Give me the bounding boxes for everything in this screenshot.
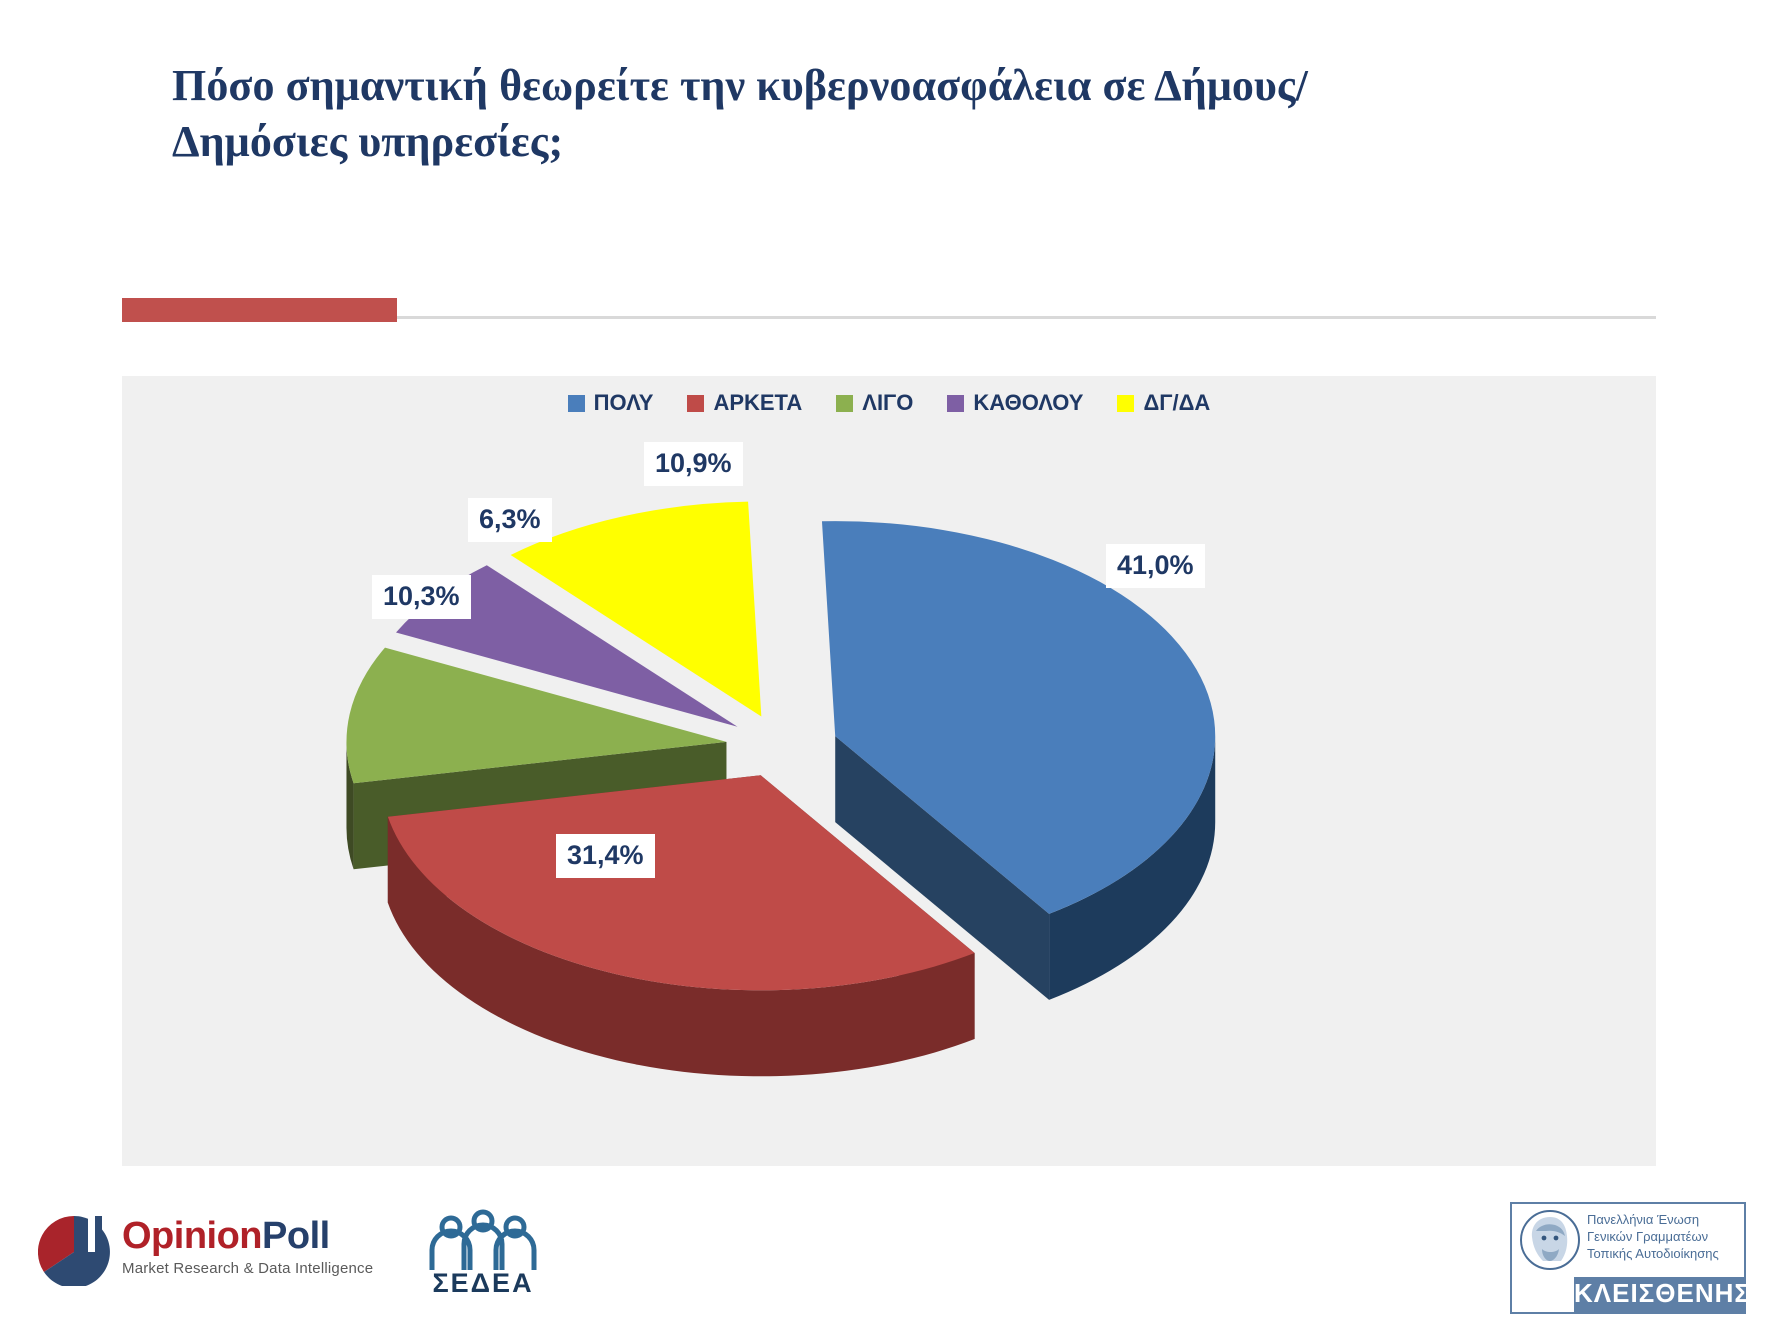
kleisthenis-portrait-icon [1517, 1209, 1583, 1271]
sedea-name: ΣΕΔΕΑ [418, 1268, 548, 1299]
data-label-poly: 41,0% [1106, 544, 1205, 588]
kleisthenis-banner: ΚΛΕΙΣΘΕΝΗΣ [1574, 1277, 1744, 1312]
page-title: Πόσο σημαντική θεωρείτε την κυβερνοασφάλ… [172, 58, 1422, 171]
legend-label: ΔΓ/ΔΑ [1143, 390, 1210, 416]
legend-swatch-icon [1117, 395, 1134, 412]
sedea-people-icon [418, 1208, 548, 1272]
legend-swatch-icon [687, 395, 704, 412]
legend-label: ΠΟΛΥ [594, 390, 654, 416]
kleisthenis-logo: Πανελλήνια Ένωση Γενικών Γραμματέων Τοπι… [1510, 1202, 1746, 1314]
data-label-arketa: 31,4% [556, 834, 655, 878]
legend-item-arketa[interactable]: ΑΡΚΕΤΑ [687, 390, 802, 416]
opinionpoll-name: OpinionPoll [122, 1217, 373, 1257]
opinionpoll-name-part2: Poll [262, 1215, 330, 1257]
footer: OpinionPoll Market Research & Data Intel… [0, 1190, 1776, 1330]
data-label-ligo: 10,3% [372, 575, 471, 619]
legend-item-ligo[interactable]: ΛΙΓΟ [836, 390, 913, 416]
kleisthenis-line3: Τοπικής Αυτοδιοίκησης [1587, 1245, 1719, 1262]
data-label-dgda: 10,9% [644, 442, 743, 486]
opinionpoll-tagline: Market Research & Data Intelligence [122, 1260, 373, 1277]
data-label-katholou: 6,3% [468, 498, 552, 542]
pie-chart [122, 416, 1656, 1156]
legend-item-dgda[interactable]: ΔΓ/ΔΑ [1117, 390, 1210, 416]
legend-swatch-icon [836, 395, 853, 412]
chart-panel: ΠΟΛΥ ΑΡΚΕΤΑ ΛΙΓΟ ΚΑΘΟΛΟΥ ΔΓ/ΔΑ 41,0% 31,… [122, 376, 1656, 1166]
accent-bar [122, 298, 397, 322]
chart-legend: ΠΟΛΥ ΑΡΚΕΤΑ ΛΙΓΟ ΚΑΘΟΛΟΥ ΔΓ/ΔΑ [122, 390, 1656, 416]
opinionpoll-logo: OpinionPoll Market Research & Data Intel… [38, 1208, 373, 1286]
sedea-logo: ΣΕΔΕΑ [418, 1208, 548, 1312]
legend-swatch-icon [947, 395, 964, 412]
opinionpoll-name-part1: Opinion [122, 1215, 262, 1257]
kleisthenis-lines: Πανελλήνια Ένωση Γενικών Γραμματέων Τοπι… [1587, 1211, 1719, 1262]
kleisthenis-line2: Γενικών Γραμματέων [1587, 1228, 1719, 1245]
legend-swatch-icon [568, 395, 585, 412]
legend-item-katholou[interactable]: ΚΑΘΟΛΟΥ [947, 390, 1083, 416]
legend-label: ΚΑΘΟΛΟΥ [973, 390, 1083, 416]
kleisthenis-line1: Πανελλήνια Ένωση [1587, 1211, 1719, 1228]
opinionpoll-pie-icon [38, 1208, 110, 1286]
legend-label: ΑΡΚΕΤΑ [713, 390, 802, 416]
opinionpoll-wordmark: OpinionPoll Market Research & Data Intel… [122, 1217, 373, 1277]
legend-label: ΛΙΓΟ [862, 390, 913, 416]
kleisthenis-top: Πανελλήνια Ένωση Γενικών Γραμματέων Τοπι… [1512, 1204, 1744, 1277]
legend-item-poly[interactable]: ΠΟΛΥ [568, 390, 654, 416]
